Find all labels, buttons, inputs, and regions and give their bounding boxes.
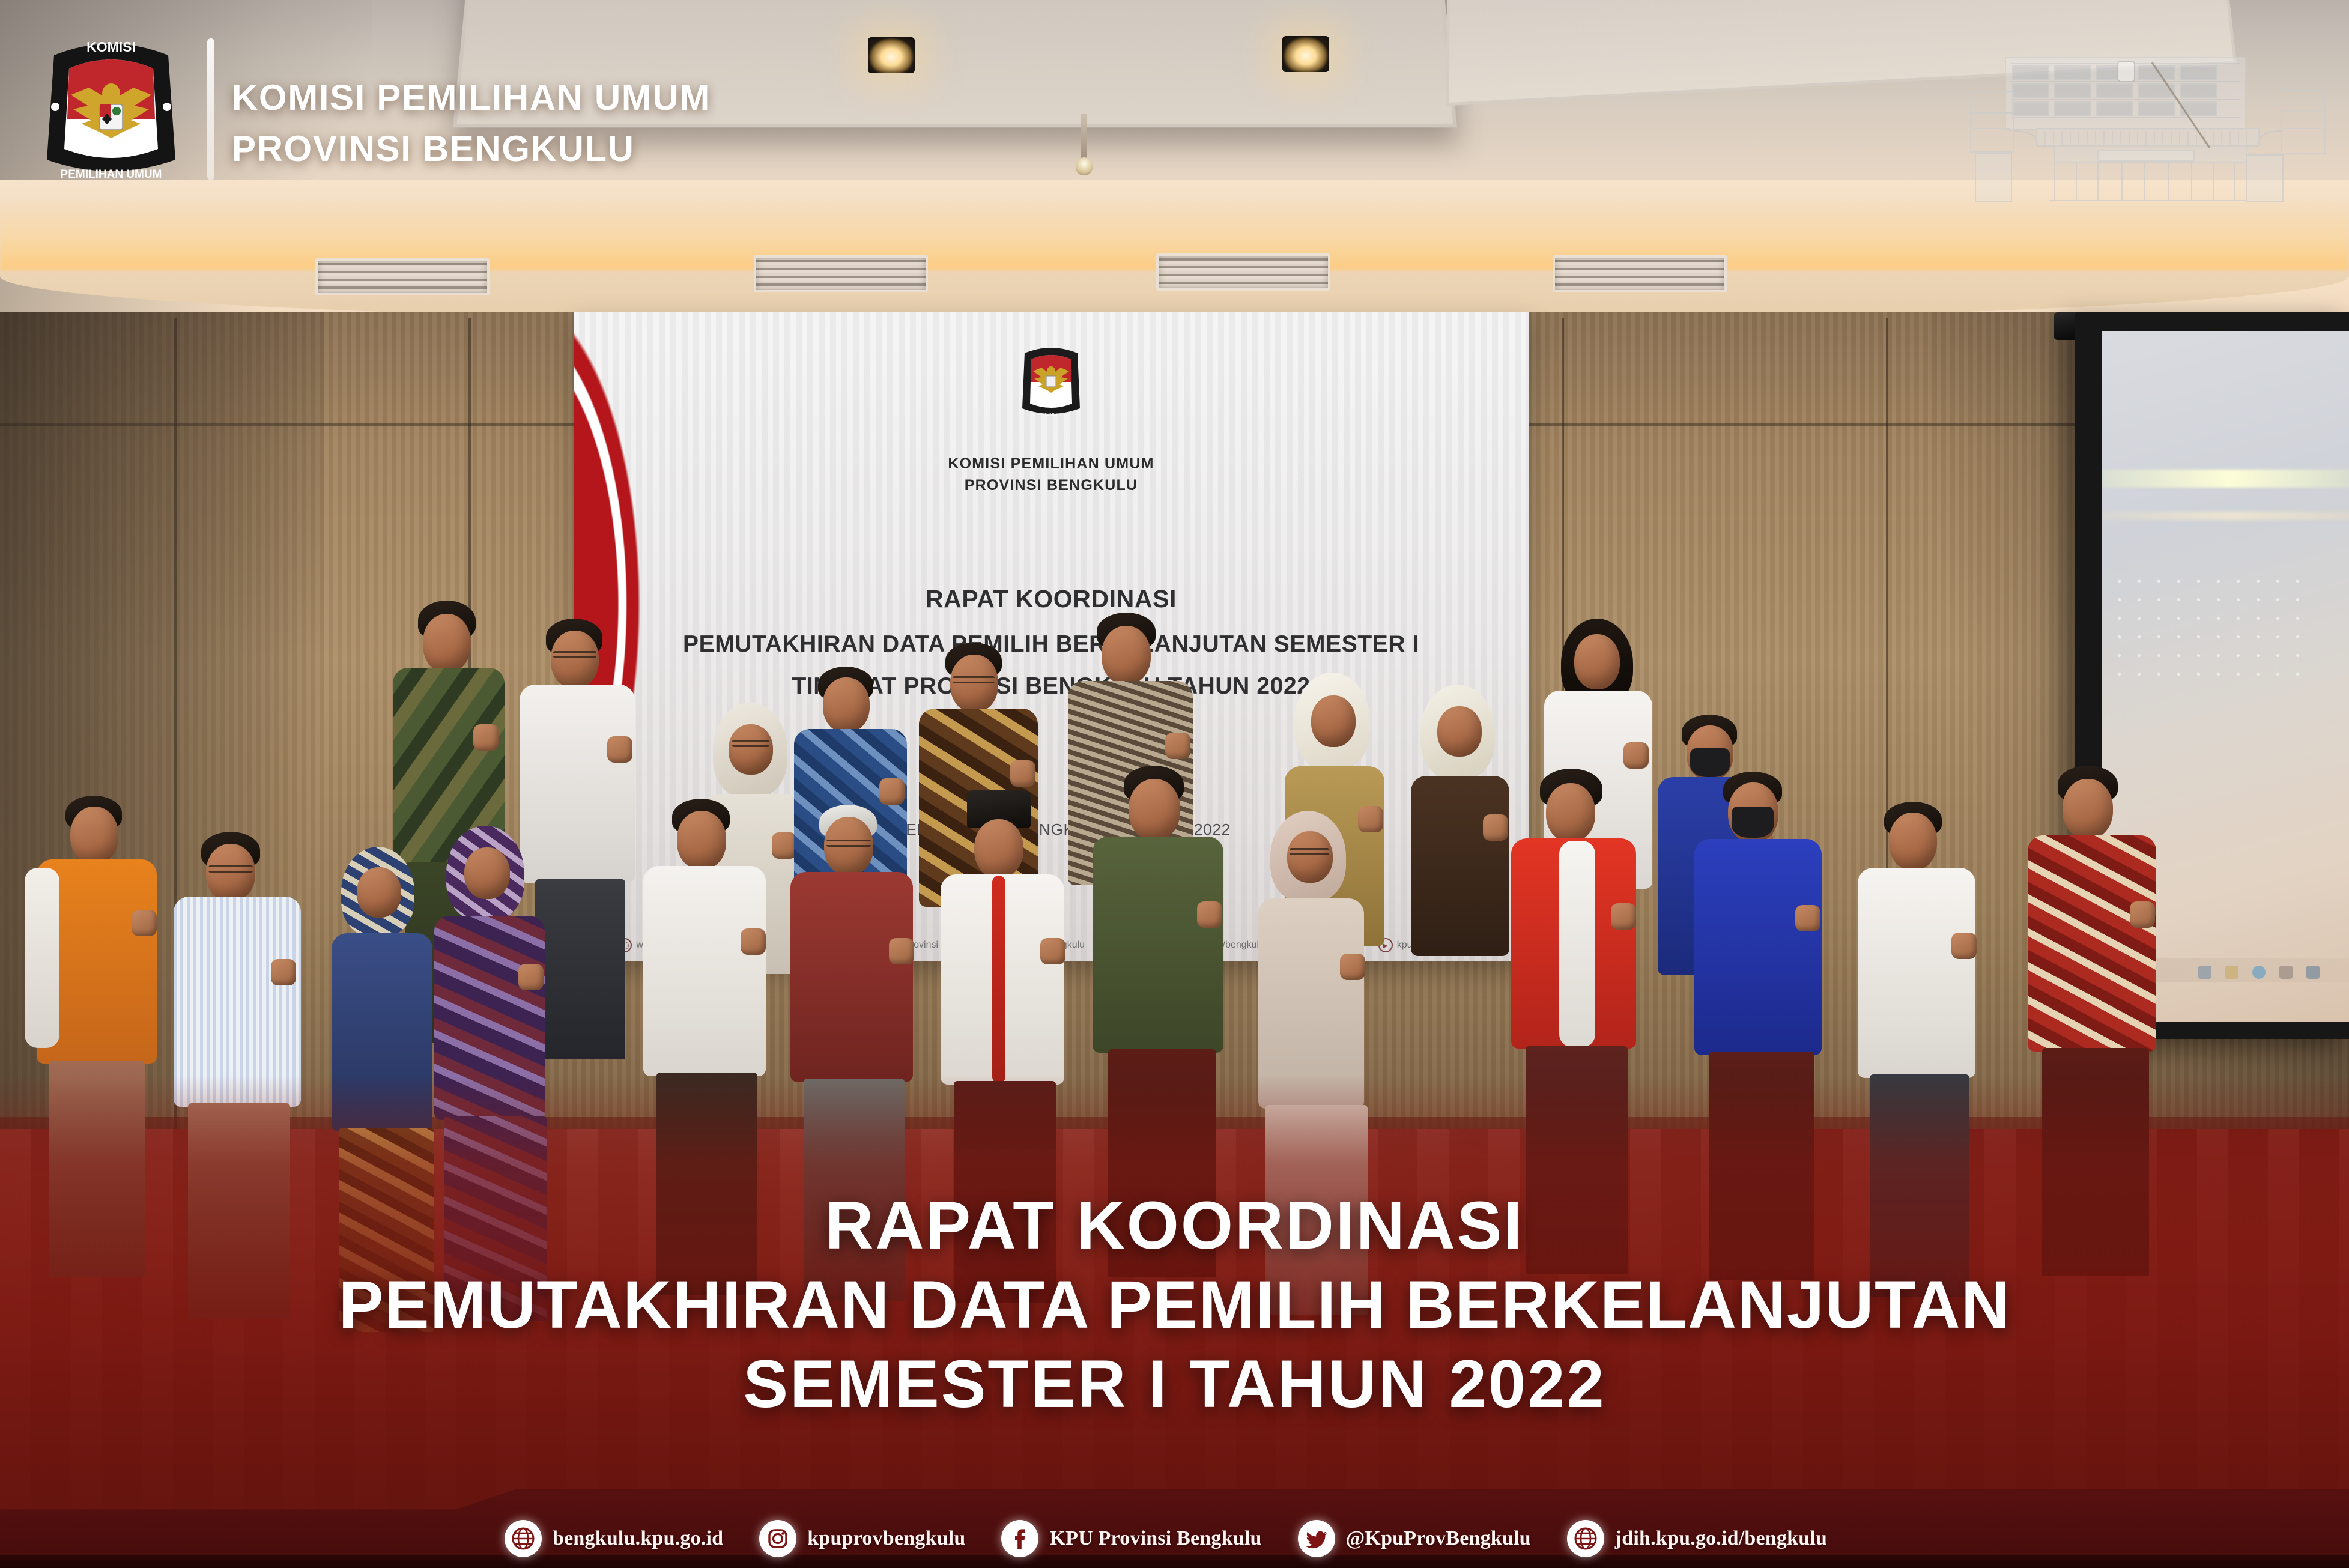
svg-text:PEMILIHAN UMUM: PEMILIHAN UMUM (61, 168, 162, 181)
hvac-vent (754, 255, 928, 292)
footer-social-bar: bengkulu.kpu.go.id kpuprovbengkulu (0, 1463, 2349, 1568)
footer-item-website[interactable]: bengkulu.kpu.go.id (505, 1520, 723, 1557)
backdrop-title-line1: RAPAT KOORDINASI (574, 585, 1529, 613)
screen-light-streak (2102, 512, 2349, 520)
taskbar-icon (2225, 966, 2238, 979)
hvac-vent (1156, 253, 1330, 291)
facebook-icon (1001, 1520, 1038, 1557)
globe-icon (505, 1520, 542, 1557)
backdrop-title: RAPAT KOORDINASI PEMUTAKHIRAN DATA PEMIL… (574, 585, 1529, 700)
svg-text:KOMISI: KOMISI (86, 39, 136, 55)
main-title: RAPAT KOORDINASI PEMUTAKHIRAN DATA PEMIL… (0, 1186, 2349, 1424)
header-org-name: KOMISI PEMILIHAN UMUM PROVINSI BENGKULU (232, 72, 711, 174)
kpu-logo-backdrop: KOMISI (1017, 341, 1085, 420)
backdrop-title-line2: PEMUTAKHIRAN DATA PEMILIH BERKELANJUTAN … (574, 631, 1529, 658)
backdrop-org-line2: PROVINSI BENGKULU (574, 474, 1529, 496)
globe-icon (1567, 1520, 1604, 1557)
footer-item-label: jdih.kpu.go.id/bengkulu (1615, 1527, 1827, 1550)
backdrop-org-line1: KOMISI PEMILIHAN UMUM (574, 453, 1529, 474)
header-org-line1: KOMISI PEMILIHAN UMUM (232, 72, 711, 123)
kpu-logo: KOMISI PEMILIHAN UMUM (36, 29, 186, 185)
backdrop-org-name: KOMISI PEMILIHAN UMUM PROVINSI BENGKULU (574, 453, 1529, 497)
footer-item-label: @KpuProvBengkulu (1346, 1527, 1531, 1550)
footer-item-facebook[interactable]: KPU Provinsi Bengkulu (1001, 1520, 1261, 1557)
taskbar-icon (2198, 966, 2211, 979)
main-title-line2: PEMUTAKHIRAN DATA PEMILIH BERKELANJUTAN (0, 1265, 2349, 1345)
footer-item-label: kpuprovbengkulu (807, 1527, 965, 1550)
footer-item-twitter[interactable]: @KpuProvBengkulu (1298, 1520, 1531, 1557)
hvac-vent (315, 258, 490, 295)
footer-item-jdih[interactable]: jdih.kpu.go.id/bengkulu (1567, 1520, 1827, 1557)
twitter-icon (1298, 1520, 1335, 1557)
screen-light-streak (2102, 470, 2349, 488)
poster-header: KOMISI PEMILIHAN UMUM KOMISI PEMILIHAN U… (0, 0, 2349, 198)
hvac-vent (1553, 255, 1727, 292)
svg-text:KOMISI: KOMISI (1044, 413, 1059, 417)
footer-item-label: bengkulu.kpu.go.id (553, 1527, 723, 1550)
instagram-icon (759, 1520, 796, 1557)
footer-item-list: bengkulu.kpu.go.id kpuprovbengkulu (0, 1520, 2349, 1557)
backdrop-title-line3: TINGKAT PROVINSI BENGKULU TAHUN 2022 (574, 673, 1529, 700)
main-title-line1: RAPAT KOORDINASI (0, 1186, 2349, 1265)
desktop-icons (2109, 572, 2308, 680)
header-divider (207, 38, 214, 180)
taskbar-icon (2279, 966, 2293, 979)
footer-item-label: KPU Provinsi Bengkulu (1049, 1527, 1261, 1550)
main-title-line3: SEMESTER I TAHUN 2022 (0, 1345, 2349, 1424)
header-org-line2: PROVINSI BENGKULU (232, 123, 711, 174)
taskbar-icon (2306, 966, 2320, 979)
footer-item-instagram[interactable]: kpuprovbengkulu (759, 1520, 965, 1557)
event-poster: KOMISI KOMISI PEMILIHAN UMUM PROVINSI BE… (0, 0, 2349, 1568)
taskbar-icon (2252, 966, 2266, 979)
